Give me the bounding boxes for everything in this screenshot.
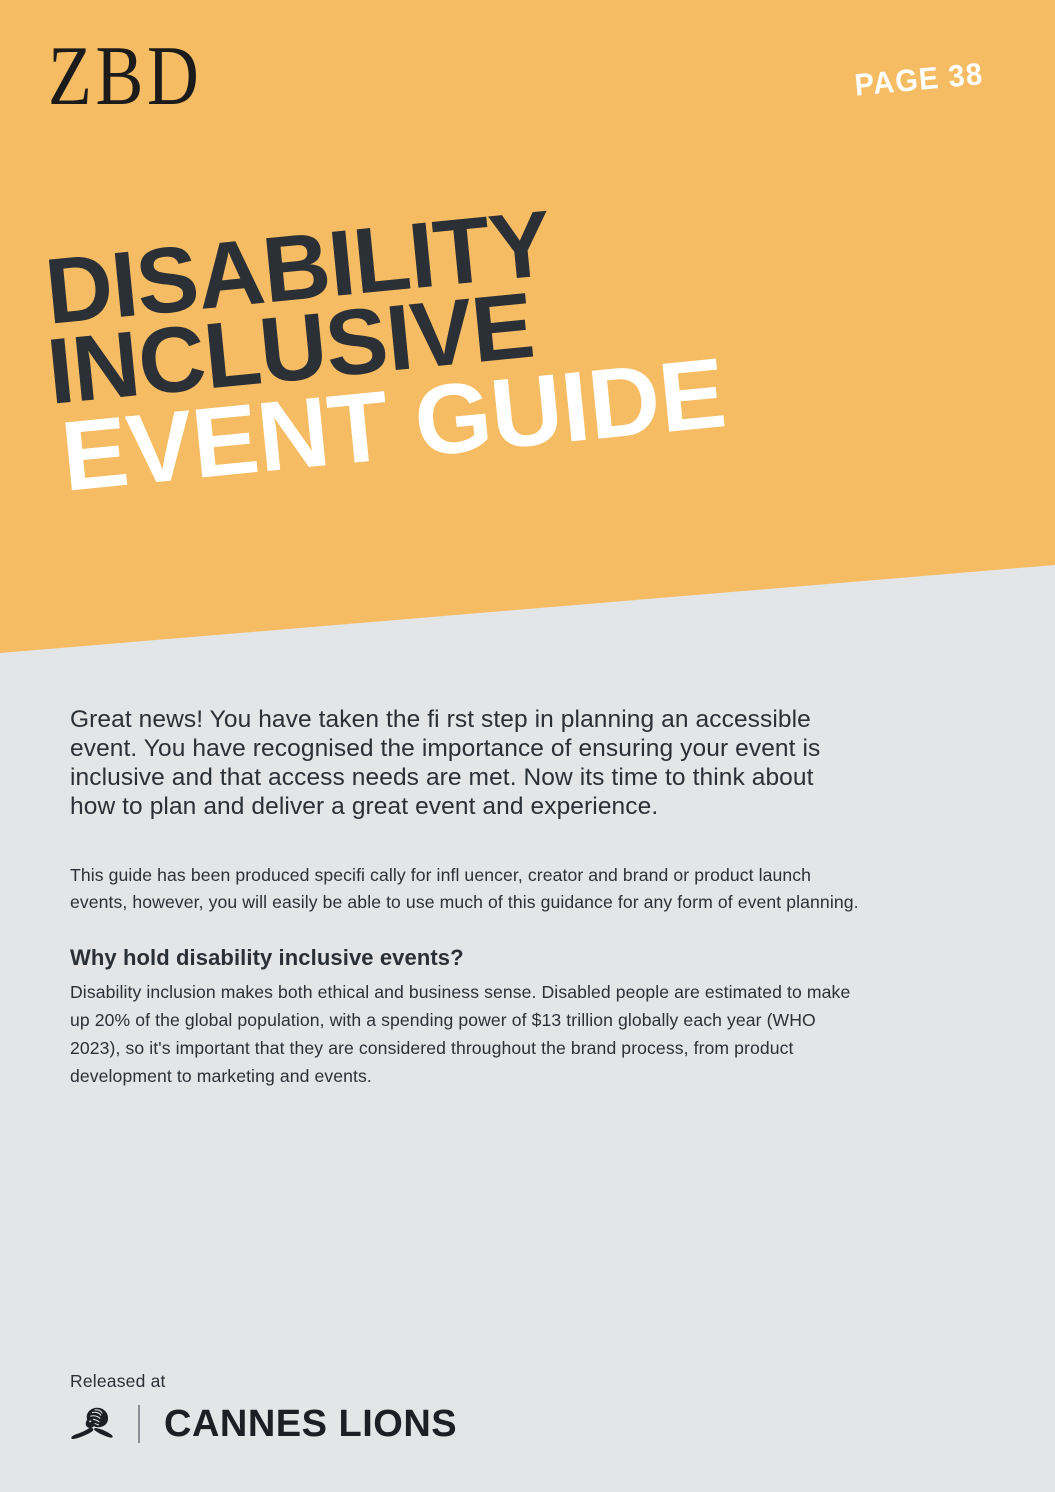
hero-title: DISABILITY INCLUSIVE EVENT GUIDE <box>28 250 1008 502</box>
guide-scope-paragraph: This guide has been produced specifi cal… <box>70 862 870 918</box>
document-page: ZBD PAGE 38 DISABILITY INCLUSIVE EVENT G… <box>0 0 1055 1492</box>
page-content: Great news! You have taken the fi rst st… <box>70 706 870 1090</box>
page-number-label: PAGE 38 <box>853 56 985 104</box>
intro-paragraph: Great news! You have taken the fi rst st… <box>70 706 830 822</box>
released-at-label: Released at <box>70 1371 770 1392</box>
partner-wordmark: CANNES LIONS <box>164 1405 457 1443</box>
brand-logo-zbd: ZBD <box>48 34 203 118</box>
section-heading-why-hold: Why hold disability inclusive events? <box>70 945 870 971</box>
lion-head-icon <box>70 1404 114 1444</box>
partner-divider <box>138 1405 140 1443</box>
page-footer: Released at <box>70 1371 770 1444</box>
hero-banner: ZBD PAGE 38 DISABILITY INCLUSIVE EVENT G… <box>0 0 1055 660</box>
business-case-paragraph: Disability inclusion makes both ethical … <box>70 979 860 1090</box>
partner-lockup: CANNES LIONS <box>70 1404 770 1444</box>
